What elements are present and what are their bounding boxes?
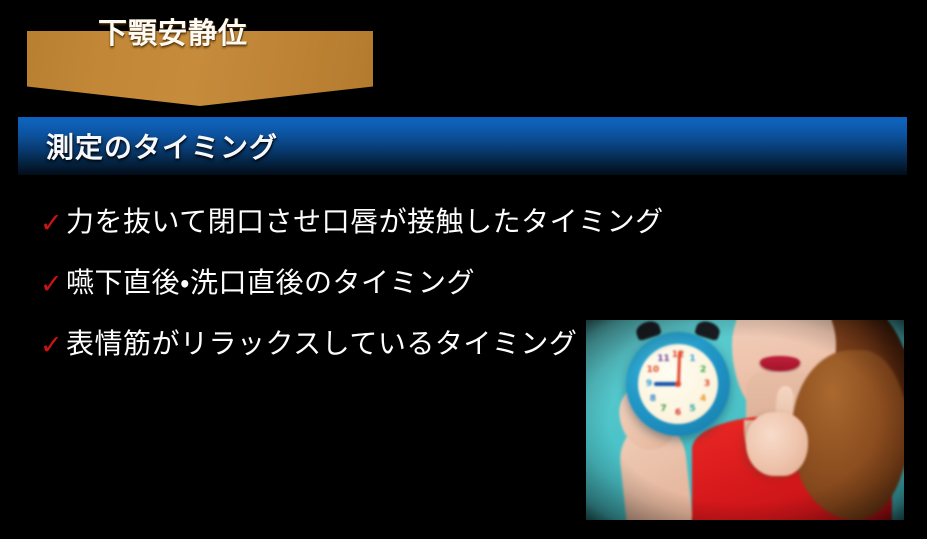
list-item-label: 嚥下直後・洗口直後のタイミング: [66, 264, 680, 302]
slide-canvas: 下顎安静位 測定のタイミング ✓ 力を抜いて閉口させ口唇が接触したタイミング ✓…: [0, 0, 927, 539]
section-banner-label: 下顎安静位: [0, 10, 346, 52]
photo-softfocus: [586, 320, 904, 520]
list-item: ✓ 嚥下直後・洗口直後のタイミング: [40, 264, 680, 325]
list-item: ✓ 表情筋がリラックスしているタイミング: [40, 325, 680, 386]
page-title: 測定のタイミング: [46, 126, 278, 166]
list-item: ✓ 力を抜いて閉口させ口唇が接触したタイミング: [40, 203, 680, 264]
bullet-list: ✓ 力を抜いて閉口させ口唇が接触したタイミング ✓ 嚥下直後・洗口直後のタイミン…: [40, 203, 680, 386]
illustration-photo: 123456789101112: [586, 320, 904, 520]
photo-content: 123456789101112: [586, 320, 904, 520]
check-icon: ✓: [40, 205, 66, 243]
title-band: 測定のタイミング: [18, 117, 907, 175]
list-item-label: 力を抜いて閉口させ口唇が接触したタイミング: [66, 203, 680, 241]
check-icon: ✓: [40, 327, 66, 365]
check-icon: ✓: [40, 266, 66, 304]
